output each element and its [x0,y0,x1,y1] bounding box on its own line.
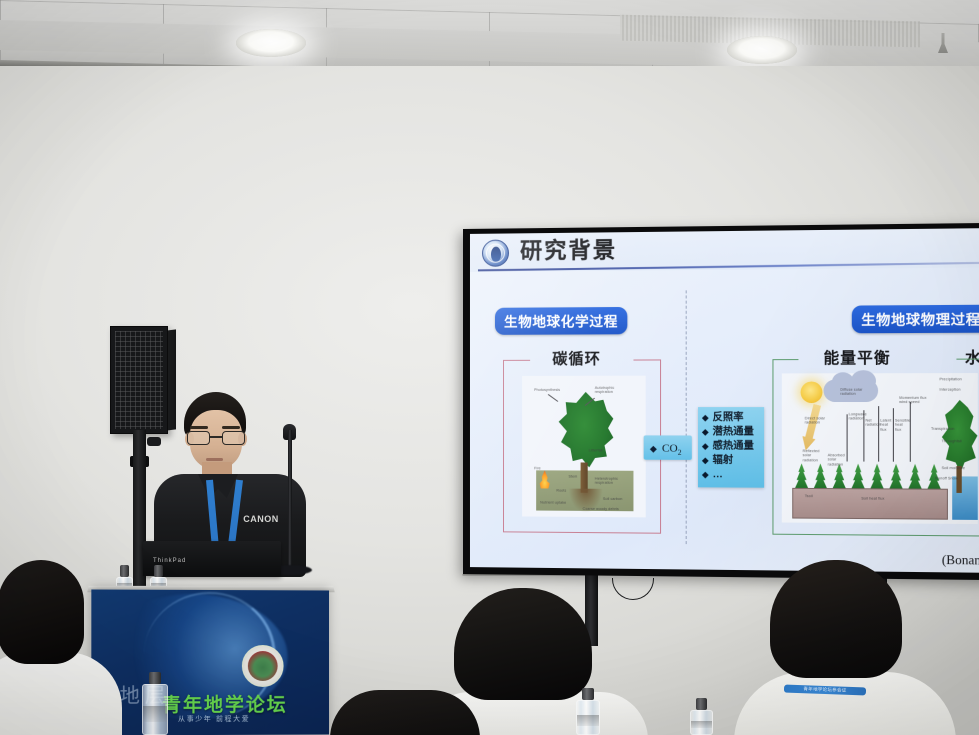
figure-annotation: Tsoil [805,494,813,499]
water-bottle [142,672,168,735]
carbon-cycle-group: 碳循环 Photosynthesis Autotrophic respirati… [503,359,661,533]
presenter-eyebrow [190,426,208,429]
audience-shoulders [0,652,122,735]
flux-axis-line [910,402,911,462]
figure-annotation: Longwave radiation [849,412,858,421]
diamond-bullet-icon: ◆ [650,444,657,454]
figure-annotation: Diffuse solar radiation [840,388,867,397]
co2-chip: ◆CO2 [644,435,692,460]
figure-annotation: Heterotrophic respiration [595,477,630,486]
water-bottle [690,698,713,735]
figure-annotation: Fire [534,466,541,470]
audience-member [748,560,968,735]
figure-annotation: Runoff [935,476,947,481]
figure-annotation: Coarse woody debris [583,507,619,512]
soil-profile-box [792,488,948,520]
figure-annotation: Precipitation [939,377,961,382]
list-item: ◆反照率 [702,411,761,424]
downlight-icon [727,36,797,64]
diamond-bullet-icon: ◆ [702,468,708,481]
slide-title: 研究背景 [520,235,617,266]
audience-head [454,588,592,700]
figure-annotation: Latent heat flux [880,418,889,432]
presenter-eyebrow [222,426,240,429]
bottle-cap [696,698,707,710]
list-item: ◆… [702,468,761,482]
bottle-cap [120,565,128,577]
audience-head [0,560,84,664]
list-item: ◆潜热通量 [702,425,761,438]
flux-item-label: 反照率 [713,411,744,424]
figure-annotation: Interception [939,388,960,393]
glasses-lens [222,431,245,445]
downlight-icon [236,29,306,57]
energy-balance-figure: Diffuse solar radiation Direct solar rad… [782,373,978,524]
co2-subscript: 2 [678,448,682,457]
podium-forum-subtitle: 从事少年 前程大爱 [178,714,250,724]
figure-annotation: Autotrophic respiration [595,386,626,395]
glasses-icon [187,431,245,445]
water-cycle-heading: 水 [965,346,979,368]
figure-annotation: Nutrient uptake [540,501,566,506]
diamond-bullet-icon: ◆ [702,454,708,467]
bottle-label [577,715,599,726]
slide-canvas: 研究背景 生物地球化学过程 生物地球物理过程 碳循环 Photosynthesi… [470,228,979,573]
forum-seal-emblem-icon [242,645,284,687]
water-bottle [576,688,600,735]
presentation-display[interactable]: 研究背景 生物地球化学过程 生物地球物理过程 碳循环 Photosynthesi… [463,223,979,580]
carbon-cycle-heading: 碳循环 [552,348,601,369]
figure-annotation: Throughfall [942,439,962,444]
solar-radiation-arrow-icon [799,403,824,452]
audience-member [0,560,108,735]
label-biogeophysical-process: 生物地球物理过程 [852,305,979,334]
institute-seal-logo-icon [482,240,509,267]
energy-balance-group: 能量平衡 水 [772,359,979,537]
figure-annotation: Net radiation [865,418,874,427]
glasses-lens [187,431,210,445]
carbon-cycle-figure: Photosynthesis Autotrophic respiration F… [522,376,646,518]
bottle-body [142,684,168,735]
diamond-bullet-icon: ◆ [702,411,708,424]
label-biogeochemical-process: 生物地球化学过程 [495,307,627,335]
bottle-cap [149,672,161,684]
microphone-stand [288,430,292,570]
audience-member [330,690,520,735]
list-item: ◆辐射 [702,454,761,467]
flux-axis-line [878,406,879,461]
audience-shoulders [734,672,956,735]
sun-icon [801,382,823,404]
flux-axis-line [893,408,894,461]
figure-annotation: Momentum flux wind speed [899,396,931,405]
bottle-body [576,700,600,735]
ceiling [0,0,979,72]
figure-annotation: Reflected solar radiation [803,449,826,463]
laptop-brand-logo: ThinkPad [153,558,186,564]
figure-annotation: Photosynthesis [534,388,560,392]
bottle-body [690,710,713,735]
co2-label: CO [662,443,678,455]
podium: 地 层 青年地学论坛 从事少年 前程大爱 [91,589,329,735]
energy-balance-heading: 能量平衡 [824,346,891,368]
figure-annotation: Transpiration [931,427,955,432]
figure-annotation: Soil moisture [942,466,965,471]
flux-item-label: 感热通量 [713,440,754,453]
flux-item-label: 潜热通量 [713,425,754,438]
figure-annotation: Stem [568,475,577,479]
flux-variable-list: ◆反照率 ◆潜热通量 ◆感热通量 ◆辐射 ◆… [698,407,764,488]
bottle-label [143,706,167,723]
slide-dashed-divider [686,290,687,544]
bottle-cap [582,688,594,700]
figure-annotation: Sensible heat flux [895,418,905,432]
audience-head [770,560,902,678]
figure-annotation: Roots [556,489,566,493]
figure-annotation: Litterfall [589,448,613,453]
diamond-bullet-icon: ◆ [702,440,708,453]
figure-annotation: Snow [948,476,958,481]
flux-item-label: … [713,468,723,481]
figure-annotation: Soil carbon [603,497,622,502]
figure-annotation: Direct solar radiation [805,416,828,425]
flux-item-label: 辐射 [713,454,734,467]
audience-head [330,690,480,735]
bottle-cap [154,565,162,577]
figure-annotation: Absorbed solar radiation [828,453,851,467]
glasses-bridge [210,436,222,438]
figure-annotation: Soil heat flux [861,496,884,501]
bottle-label [691,721,712,729]
shirt-logo: CANON [243,512,279,526]
presentation-room-photo: 研究背景 生物地球化学过程 生物地球物理过程 碳循环 Photosynthesi… [0,0,979,735]
list-item: ◆感热通量 [702,440,761,453]
diamond-bullet-icon: ◆ [702,425,708,438]
presenter-mouth [206,458,223,461]
